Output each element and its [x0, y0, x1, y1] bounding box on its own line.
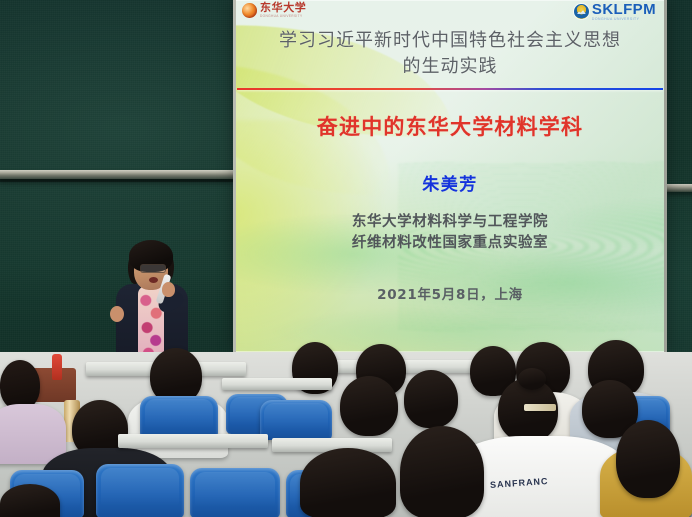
slide-affiliation-line-2: 纤维材料改性国家重点实验室 — [236, 233, 664, 254]
desk-mid-right — [222, 378, 332, 390]
dhu-flame-icon — [242, 3, 257, 18]
slide-main-title: 奋进中的东华大学材料学科 — [236, 111, 664, 141]
audience-head — [300, 448, 396, 517]
slide-header-line-1: 学习习近平新时代中国特色社会主义思想 — [236, 28, 664, 54]
projection-screen: 东华大学 DONGHUA UNIVERSITY SKLFPM DONGHUA U… — [233, 0, 667, 352]
slide-affiliation: 东华大学材料科学与工程学院 纤维材料改性国家重点实验室 — [236, 212, 664, 254]
presenter-hand-right — [162, 282, 175, 297]
lecture-seat — [140, 396, 218, 438]
audience-head — [0, 484, 60, 517]
dhu-logo-en: DONGHUA UNIVERSITY — [260, 15, 306, 18]
slide-header-line-2: 的生动实践 — [236, 54, 664, 80]
room-lower-area: SANFRANC — [0, 352, 692, 517]
dhu-logo-text: 东华大学 DONGHUA UNIVERSITY — [260, 3, 306, 18]
sklfpm-badge-icon — [574, 4, 589, 19]
presenter-hand-left — [110, 306, 124, 322]
presenter-mouth — [149, 277, 158, 283]
hair-clip-icon — [524, 404, 556, 411]
lecture-seat — [190, 468, 280, 517]
slide-date-location: 2021年5月8日，上海 — [236, 283, 664, 303]
presenter-glasses — [140, 264, 166, 273]
desk-front-left — [118, 434, 268, 448]
lecture-hall-scene: 东华大学 DONGHUA UNIVERSITY SKLFPM DONGHUA U… — [0, 0, 692, 517]
sklfpm-logo: SKLFPM DONGHUA UNIVERSITY — [574, 2, 656, 21]
sklfpm-logo-text: SKLFPM DONGHUA UNIVERSITY — [592, 2, 656, 21]
slide-affiliation-line-1: 东华大学材料科学与工程学院 — [236, 212, 664, 233]
audience-head — [400, 426, 484, 517]
lecture-seat — [260, 400, 332, 440]
slide-content: 东华大学 DONGHUA UNIVERSITY SKLFPM DONGHUA U… — [236, 0, 664, 352]
audience-head — [404, 370, 458, 428]
chalk-tray-rail-left — [0, 170, 234, 179]
lecture-seat — [96, 464, 184, 517]
presenter — [104, 236, 200, 366]
slide-header-title: 学习习近平新时代中国特色社会主义思想 的生动实践 — [236, 28, 664, 80]
audience-head — [0, 360, 40, 410]
audience-head — [616, 420, 680, 498]
sklfpm-logo-sub: DONGHUA UNIVERSITY — [592, 18, 656, 21]
audience-head — [340, 376, 398, 436]
audience-shoulders — [0, 404, 66, 464]
dhu-logo-cn: 东华大学 — [260, 3, 306, 14]
red-bottle — [52, 354, 62, 380]
hair-bun — [518, 368, 546, 390]
chalkboard-seam — [0, 179, 234, 182]
sklfpm-logo-main: SKLFPM — [592, 2, 656, 17]
slide-divider-line — [237, 88, 663, 90]
chalk-tray-rail-right — [666, 184, 692, 192]
slide-speaker-name: 朱美芳 — [236, 170, 664, 195]
dhu-logo: 东华大学 DONGHUA UNIVERSITY — [242, 3, 306, 18]
